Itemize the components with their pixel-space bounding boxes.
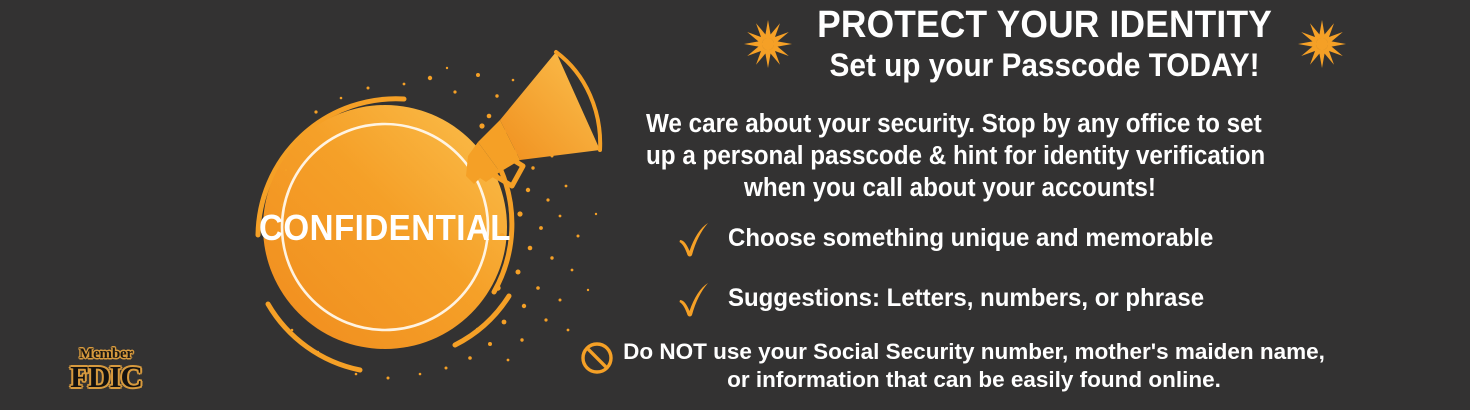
list-item: Choose something unique and memorable <box>660 216 1260 260</box>
list-item-label: Suggestions: Letters, numbers, or phrase <box>728 284 1204 312</box>
headline-row: PROTECT YOUR IDENTITY Set up your Passco… <box>620 4 1470 83</box>
bullet-list: Choose something unique and memorable Su… <box>660 216 1260 336</box>
banner-content: PROTECT YOUR IDENTITY Set up your Passco… <box>620 0 1470 410</box>
body-line-2: up a personal passcode & hint for identi… <box>646 140 1254 172</box>
starburst-icon <box>742 18 794 70</box>
warning-row: Do NOT use your Social Security number, … <box>582 338 1322 394</box>
body-paragraph: We care about your security. Stop by any… <box>646 108 1254 204</box>
warning-line-1: Do NOT use your Social Security number, … <box>623 338 1325 366</box>
check-icon <box>676 218 712 258</box>
warning-text: Do NOT use your Social Security number, … <box>623 338 1325 394</box>
headline-block: PROTECT YOUR IDENTITY Set up your Passco… <box>800 4 1289 83</box>
check-icon <box>676 278 712 318</box>
fdic-label: FDIC <box>58 361 154 392</box>
prohibition-icon <box>579 340 615 376</box>
megaphone-icon <box>466 52 600 186</box>
page-title: PROTECT YOUR IDENTITY <box>818 4 1273 46</box>
list-item: Suggestions: Letters, numbers, or phrase <box>660 276 1260 320</box>
page-subtitle: Set up your Passcode TODAY! <box>818 47 1273 83</box>
starburst-icon <box>1296 18 1348 70</box>
list-item-label: Choose something unique and memorable <box>728 224 1213 252</box>
confidential-label: CONFIDENTIAL <box>259 209 511 249</box>
body-line-3: when you call about your accounts! <box>646 172 1254 204</box>
identity-protection-banner: CONFIDENTIAL Member FDIC <box>0 0 1470 410</box>
fdic-logo: Member FDIC <box>58 347 154 392</box>
warning-line-2: or information that can be easily found … <box>623 366 1325 394</box>
body-line-1: We care about your security. Stop by any… <box>646 108 1254 140</box>
